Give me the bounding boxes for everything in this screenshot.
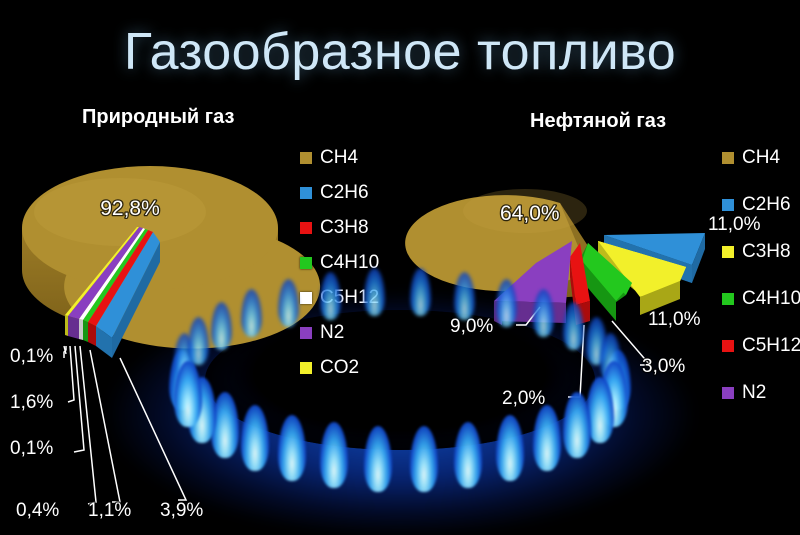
slice-value-c5h12: 2,0% bbox=[502, 388, 545, 409]
legend-swatch-icon bbox=[300, 292, 312, 304]
legend-item-n2[interactable]: N2 bbox=[300, 321, 379, 345]
legend-item-c3h8[interactable]: C3H8 bbox=[722, 240, 800, 264]
legend-item-label: C2H6 bbox=[742, 194, 791, 216]
legend-item-label: C3H8 bbox=[742, 241, 791, 263]
slice-value-ch4: 64,0% bbox=[500, 202, 560, 225]
slice-value-c4h10: 0,4% bbox=[16, 500, 59, 521]
flame-jet bbox=[211, 302, 232, 350]
legend-swatch-icon bbox=[722, 199, 734, 211]
flame-jet bbox=[410, 268, 431, 316]
legend-swatch-icon bbox=[300, 257, 312, 269]
flame-jet bbox=[320, 272, 341, 320]
legend-item-label: CO2 bbox=[320, 357, 359, 379]
legend-item-c2h6[interactable]: C2H6 bbox=[300, 181, 379, 205]
pie-chart-natural-gas: 92,8% 0,1% 1,6% 0,1% 0,4% 1,1% 3,9% bbox=[0, 150, 300, 535]
legend-natural-gas: CH4C2H6C3H8C4H10C5H12N2CO2 bbox=[300, 146, 379, 391]
legend-item-co2[interactable]: CO2 bbox=[300, 356, 379, 380]
legend-item-c2h6[interactable]: C2H6 bbox=[722, 193, 800, 217]
slice-value-c2h6: 3,9% bbox=[160, 500, 203, 521]
legend-swatch-icon bbox=[300, 362, 312, 374]
legend-item-label: N2 bbox=[742, 382, 766, 404]
slice-value-n2: 9,0% bbox=[450, 316, 493, 337]
legend-item-c4h10[interactable]: C4H10 bbox=[722, 287, 800, 311]
legend-item-ch4[interactable]: CH4 bbox=[300, 146, 379, 170]
slice-value-c5h12: 0,1% bbox=[10, 346, 53, 367]
legend-swatch-icon bbox=[722, 293, 734, 305]
slide-canvas: Газообразное топливо Природный газ Нефтя… bbox=[0, 0, 800, 535]
flame-jet bbox=[320, 422, 348, 488]
slice-value-c4h10: 3,0% bbox=[642, 356, 685, 377]
chart-subtitle-natural-gas: Природный газ bbox=[82, 106, 234, 129]
legend-swatch-icon bbox=[722, 152, 734, 164]
slice-value-n2: 1,6% bbox=[10, 392, 53, 413]
legend-item-n2[interactable]: N2 bbox=[722, 381, 800, 405]
legend-item-ch4[interactable]: CH4 bbox=[722, 146, 800, 170]
legend-item-label: C2H6 bbox=[320, 182, 369, 204]
slice-value-ch4: 92,8% bbox=[100, 197, 160, 220]
flame-jet bbox=[364, 268, 385, 316]
legend-swatch-icon bbox=[300, 327, 312, 339]
legend-item-c5h12[interactable]: C5H12 bbox=[722, 334, 800, 358]
legend-swatch-icon bbox=[300, 222, 312, 234]
legend-swatch-icon bbox=[300, 152, 312, 164]
legend-item-label: N2 bbox=[320, 322, 344, 344]
pie-chart-natural-gas-svg: 92,8% 0,1% 1,6% 0,1% 0,4% 1,1% 3,9% bbox=[0, 150, 300, 535]
legend-item-label: C3H8 bbox=[320, 217, 369, 239]
legend-item-label: CH4 bbox=[320, 147, 358, 169]
slice-value-c3h8: 11,0% bbox=[648, 309, 701, 330]
flame-jet bbox=[533, 289, 554, 337]
leader-lines-left bbox=[64, 346, 186, 504]
legend-item-label: CH4 bbox=[742, 147, 780, 169]
chart-subtitle-petroleum-gas: Нефтяной газ bbox=[530, 110, 666, 133]
legend-swatch-icon bbox=[722, 246, 734, 258]
legend-item-c3h8[interactable]: C3H8 bbox=[300, 216, 379, 240]
legend-item-c4h10[interactable]: C4H10 bbox=[300, 251, 379, 275]
slice-value-c3h8: 1,1% bbox=[88, 500, 131, 521]
legend-swatch-icon bbox=[300, 187, 312, 199]
legend-petroleum-gas: CH4C2H6C3H8C4H10C5H12N2 bbox=[722, 146, 800, 428]
legend-item-label: C5H12 bbox=[742, 335, 800, 357]
legend-item-label: C4H10 bbox=[742, 288, 800, 310]
legend-swatch-icon bbox=[722, 340, 734, 352]
page-title: Газообразное топливо bbox=[0, 22, 800, 82]
legend-swatch-icon bbox=[722, 387, 734, 399]
slice-value-co2: 0,1% bbox=[10, 438, 53, 459]
